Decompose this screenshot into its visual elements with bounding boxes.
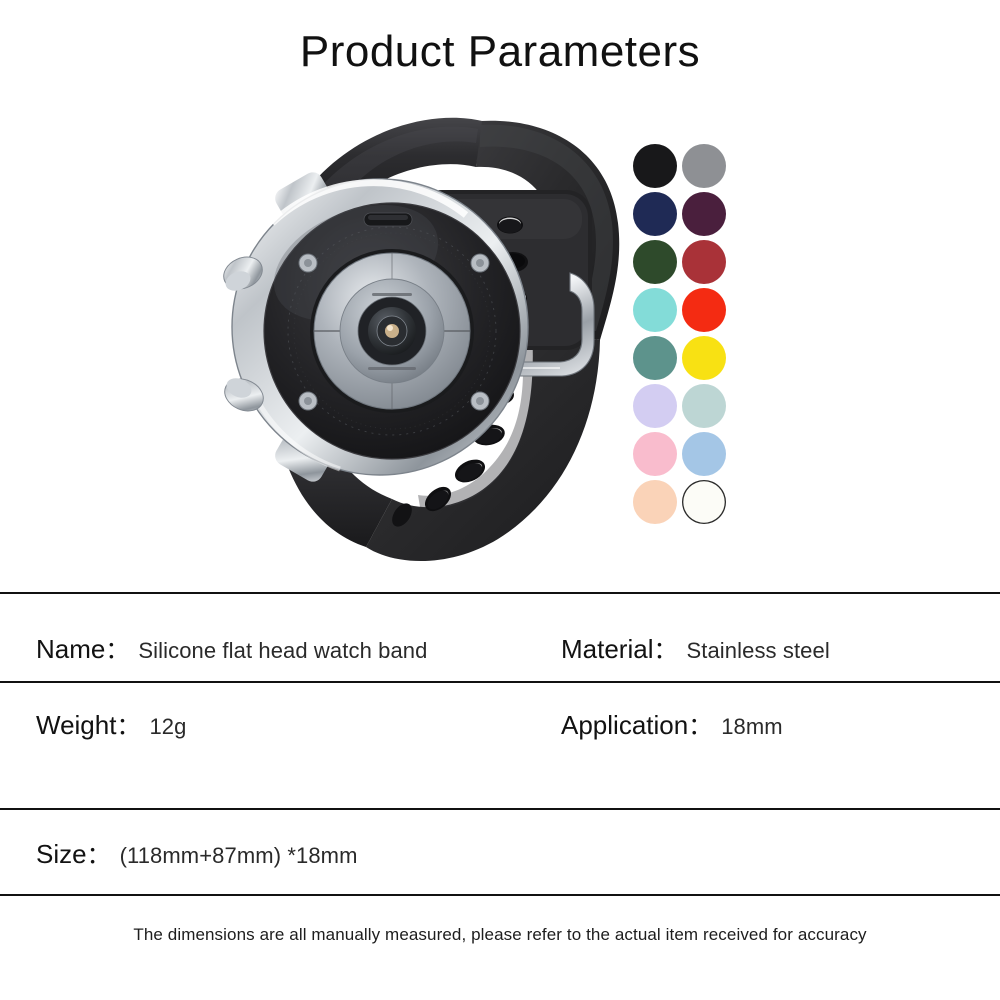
spec-field-size: Size ： (118mm+87mm) *18mm bbox=[36, 835, 358, 870]
spec-label-size: Size bbox=[36, 839, 87, 870]
color-swatch-peach[interactable] bbox=[633, 480, 677, 524]
spec-colon: ： bbox=[653, 630, 679, 665]
spec-value-material: Stainless steel bbox=[686, 638, 829, 664]
page-title: Product Parameters bbox=[0, 26, 1000, 79]
color-swatch-light-blue[interactable] bbox=[682, 432, 726, 476]
spec-colon: ： bbox=[87, 835, 113, 870]
spec-divider-second bbox=[0, 681, 1000, 683]
color-swatch-dark-green[interactable] bbox=[633, 240, 677, 284]
product-photo bbox=[180, 95, 640, 565]
spec-label-name: Name bbox=[36, 634, 105, 665]
color-swatch-sage-teal[interactable] bbox=[633, 336, 677, 380]
color-swatch-mint-blue[interactable] bbox=[633, 288, 677, 332]
spec-value-weight: 12g bbox=[149, 714, 186, 740]
spec-value-size: (118mm+87mm) *18mm bbox=[120, 843, 358, 869]
color-swatch-grid[interactable] bbox=[633, 144, 753, 528]
color-swatch-plum-purple[interactable] bbox=[682, 192, 726, 236]
spec-divider-third bbox=[0, 808, 1000, 810]
spec-value-name: Silicone flat head watch band bbox=[138, 638, 427, 664]
color-swatch-pink[interactable] bbox=[633, 432, 677, 476]
spec-field-material: Material ： Stainless steel bbox=[561, 630, 830, 665]
color-swatch-white[interactable] bbox=[682, 480, 726, 524]
color-swatch-gray[interactable] bbox=[682, 144, 726, 188]
color-swatch-navy-blue[interactable] bbox=[633, 192, 677, 236]
spec-colon: ： bbox=[105, 630, 131, 665]
spec-divider-bottom bbox=[0, 894, 1000, 896]
spec-field-weight: Weight ： 12g bbox=[36, 706, 186, 741]
spec-field-name: Name ： Silicone flat head watch band bbox=[36, 630, 427, 665]
measurement-disclaimer: The dimensions are all manually measured… bbox=[0, 925, 1000, 945]
spec-colon: ： bbox=[116, 706, 142, 741]
spec-label-application: Application bbox=[561, 710, 688, 741]
color-swatch-pale-aqua[interactable] bbox=[682, 384, 726, 428]
color-swatch-black[interactable] bbox=[633, 144, 677, 188]
color-swatch-brick-red[interactable] bbox=[682, 240, 726, 284]
spec-value-application: 18mm bbox=[721, 714, 783, 740]
spec-label-material: Material bbox=[561, 634, 653, 665]
spec-field-application: Application ： 18mm bbox=[561, 706, 783, 741]
spec-colon: ： bbox=[688, 706, 714, 741]
product-hero bbox=[0, 95, 1000, 570]
color-swatch-bright-red[interactable] bbox=[682, 288, 726, 332]
spec-label-weight: Weight bbox=[36, 710, 116, 741]
color-swatch-yellow[interactable] bbox=[682, 336, 726, 380]
spec-divider-top bbox=[0, 592, 1000, 594]
color-swatch-lavender[interactable] bbox=[633, 384, 677, 428]
product-parameters-page: Product Parameters bbox=[0, 0, 1000, 1000]
